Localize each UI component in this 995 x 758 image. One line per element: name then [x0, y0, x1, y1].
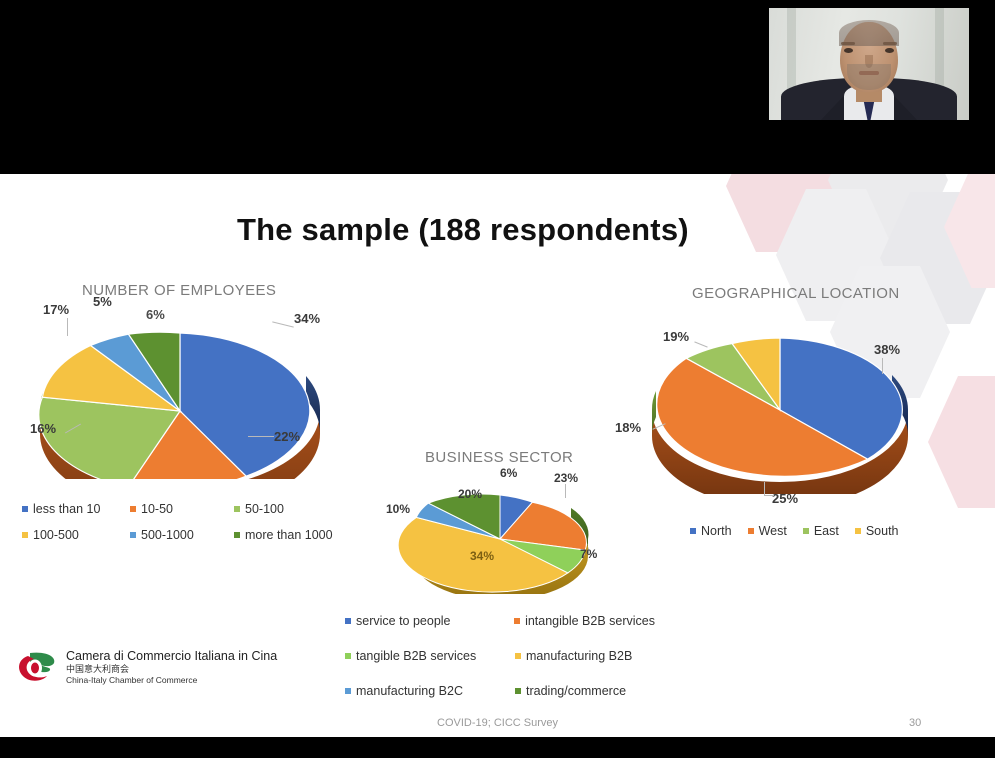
legend-swatch-icon-employees-4 [130, 532, 136, 538]
slide-footer-note: COVID-19; CICC Survey [437, 717, 558, 729]
pie-label-geography-0: 38% [874, 342, 900, 357]
legend-swatch-icon-business-4 [345, 688, 351, 694]
eyebrow-left [841, 42, 855, 45]
leader-line-geography-0 [882, 358, 883, 374]
legend-item-business-5[interactable]: trading/commerce [515, 684, 626, 698]
legend-swatch-icon-business-2 [345, 653, 351, 659]
cicc-logo-text: Camera di Commercio Italiana in Cina 中国意… [66, 649, 277, 686]
legend-item-geography-3[interactable]: South [855, 524, 899, 538]
legend-item-geography-2[interactable]: East [803, 524, 839, 538]
pie-label-geography-2: 18% [615, 420, 641, 435]
pie-chart-geographical-location: 38% 25% 18% 19% [630, 314, 930, 494]
legend-item-employees-1[interactable]: 10-50 [130, 502, 234, 516]
legend-label-employees-2: 50-100 [245, 502, 284, 516]
legend-swatch-icon-geography-3 [855, 528, 861, 534]
legend-swatch-icon-business-1 [514, 618, 520, 624]
chart-title-business-sector: BUSINESS SECTOR [425, 449, 573, 466]
cicc-logo-mark-icon [16, 650, 58, 684]
leader-line-business-1 [565, 484, 566, 498]
legend-item-employees-0[interactable]: less than 10 [22, 502, 130, 516]
pie-svg-employees [20, 304, 340, 479]
legend-item-geography-1[interactable]: West [748, 524, 787, 538]
leader-line-geography-1 [764, 482, 765, 496]
chart-title-geographical-location: GEOGRAPHICAL LOCATION [692, 285, 900, 302]
legend-item-business-2[interactable]: tangible B2B services [345, 649, 515, 663]
legend-swatch-icon-business-3 [515, 653, 521, 659]
legend-item-employees-4[interactable]: 500-1000 [130, 528, 234, 542]
legend-label-business-1: intangible B2B services [525, 614, 655, 628]
legend-swatch-icon-employees-5 [234, 532, 240, 538]
legend-label-employees-0: less than 10 [33, 502, 100, 516]
legend-label-employees-5: more than 1000 [245, 528, 333, 542]
logo-line-chinese: 中国意大利商会 [66, 664, 277, 675]
legend-label-geography-2: East [814, 524, 839, 538]
pie-label-geography-3: 19% [663, 329, 689, 344]
eyebrow-right [883, 42, 897, 45]
presenter-webcam-tile[interactable] [769, 8, 969, 120]
presentation-slide: The sample (188 respondents) NUMBER OF E… [0, 174, 995, 737]
pie-label-business-4: 10% [386, 502, 410, 516]
leader-line-employees-1 [248, 436, 274, 437]
legend-swatch-icon-business-5 [515, 688, 521, 694]
legend-swatch-icon-geography-2 [803, 528, 809, 534]
pie-chart-number-of-employees: 34% 22% 16% 17% 5% 6% [20, 304, 340, 479]
pie-label-employees-2: 16% [30, 421, 56, 436]
eye-left [844, 48, 853, 53]
pie-label-business-5: 20% [458, 487, 482, 501]
pie-label-geography-1: 25% [772, 491, 798, 506]
legend-swatch-icon-business-0 [345, 618, 351, 624]
legend-label-employees-3: 100-500 [33, 528, 79, 542]
legend-item-business-1[interactable]: intangible B2B services [514, 614, 655, 628]
pie-label-employees-1: 22% [274, 429, 300, 444]
page-title: The sample (188 respondents) [237, 212, 689, 248]
legend-label-geography-0: North [701, 524, 732, 538]
legend-label-business-2: tangible B2B services [356, 649, 476, 663]
legend-item-employees-2[interactable]: 50-100 [234, 502, 284, 516]
logo-line-english: China-Italy Chamber of Commerce [66, 675, 277, 685]
legend-item-business-3[interactable]: manufacturing B2B [515, 649, 632, 663]
legend-item-geography-0[interactable]: North [690, 524, 732, 538]
legend-item-employees-3[interactable]: 100-500 [22, 528, 130, 542]
eye-right [885, 48, 894, 53]
legend-swatch-icon-employees-3 [22, 532, 28, 538]
legend-label-employees-4: 500-1000 [141, 528, 194, 542]
hexagon-decor-pink-2 [928, 376, 995, 508]
legend-swatch-icon-geography-1 [748, 528, 754, 534]
legend-label-business-4: manufacturing B2C [356, 684, 463, 698]
legend-label-business-5: trading/commerce [526, 684, 626, 698]
legend-number-of-employees: less than 10 10-50 50-100 100-500 [22, 502, 372, 542]
legend-swatch-icon-employees-1 [130, 506, 136, 512]
legend-label-geography-1: West [759, 524, 787, 538]
mouth [859, 71, 879, 75]
pie-label-employees-4: 5% [93, 294, 112, 309]
legend-swatch-icon-employees-2 [234, 506, 240, 512]
pie-label-business-2: 7% [580, 547, 597, 561]
logo-swoosh-icon [16, 650, 58, 684]
leader-line-employees-3 [67, 318, 68, 336]
legend-geographical-location: North West East South [690, 524, 899, 538]
legend-swatch-icon-geography-0 [690, 528, 696, 534]
legend-item-business-4[interactable]: manufacturing B2C [345, 684, 515, 698]
screen-share-view: The sample (188 respondents) NUMBER OF E… [0, 0, 995, 758]
legend-label-geography-3: South [866, 524, 899, 538]
pie-label-employees-0: 34% [294, 311, 320, 326]
pie-label-business-0: 6% [500, 466, 517, 480]
pie-label-employees-5: 6% [146, 307, 165, 322]
pie-chart-business-sector: 6% 23% 7% 34% 10% 20% [390, 479, 610, 594]
pie-label-employees-3: 17% [43, 302, 69, 317]
pie-label-business-1: 23% [554, 471, 578, 485]
legend-business-sector: service to people intangible B2B service… [345, 614, 655, 698]
pie-label-business-3: 34% [470, 549, 494, 563]
legend-swatch-icon-employees-0 [22, 506, 28, 512]
legend-label-business-3: manufacturing B2B [526, 649, 632, 663]
logo-line-italian: Camera di Commercio Italiana in Cina [66, 649, 277, 664]
cicc-logo: Camera di Commercio Italiana in Cina 中国意… [16, 649, 277, 686]
legend-item-employees-5[interactable]: more than 1000 [234, 528, 333, 542]
leader-line-geography-1b [764, 495, 774, 496]
legend-label-business-0: service to people [356, 614, 451, 628]
pie-svg-business [390, 479, 610, 594]
legend-label-employees-1: 10-50 [141, 502, 173, 516]
slide-page-number: 30 [909, 717, 921, 729]
legend-item-business-0[interactable]: service to people [345, 614, 514, 628]
